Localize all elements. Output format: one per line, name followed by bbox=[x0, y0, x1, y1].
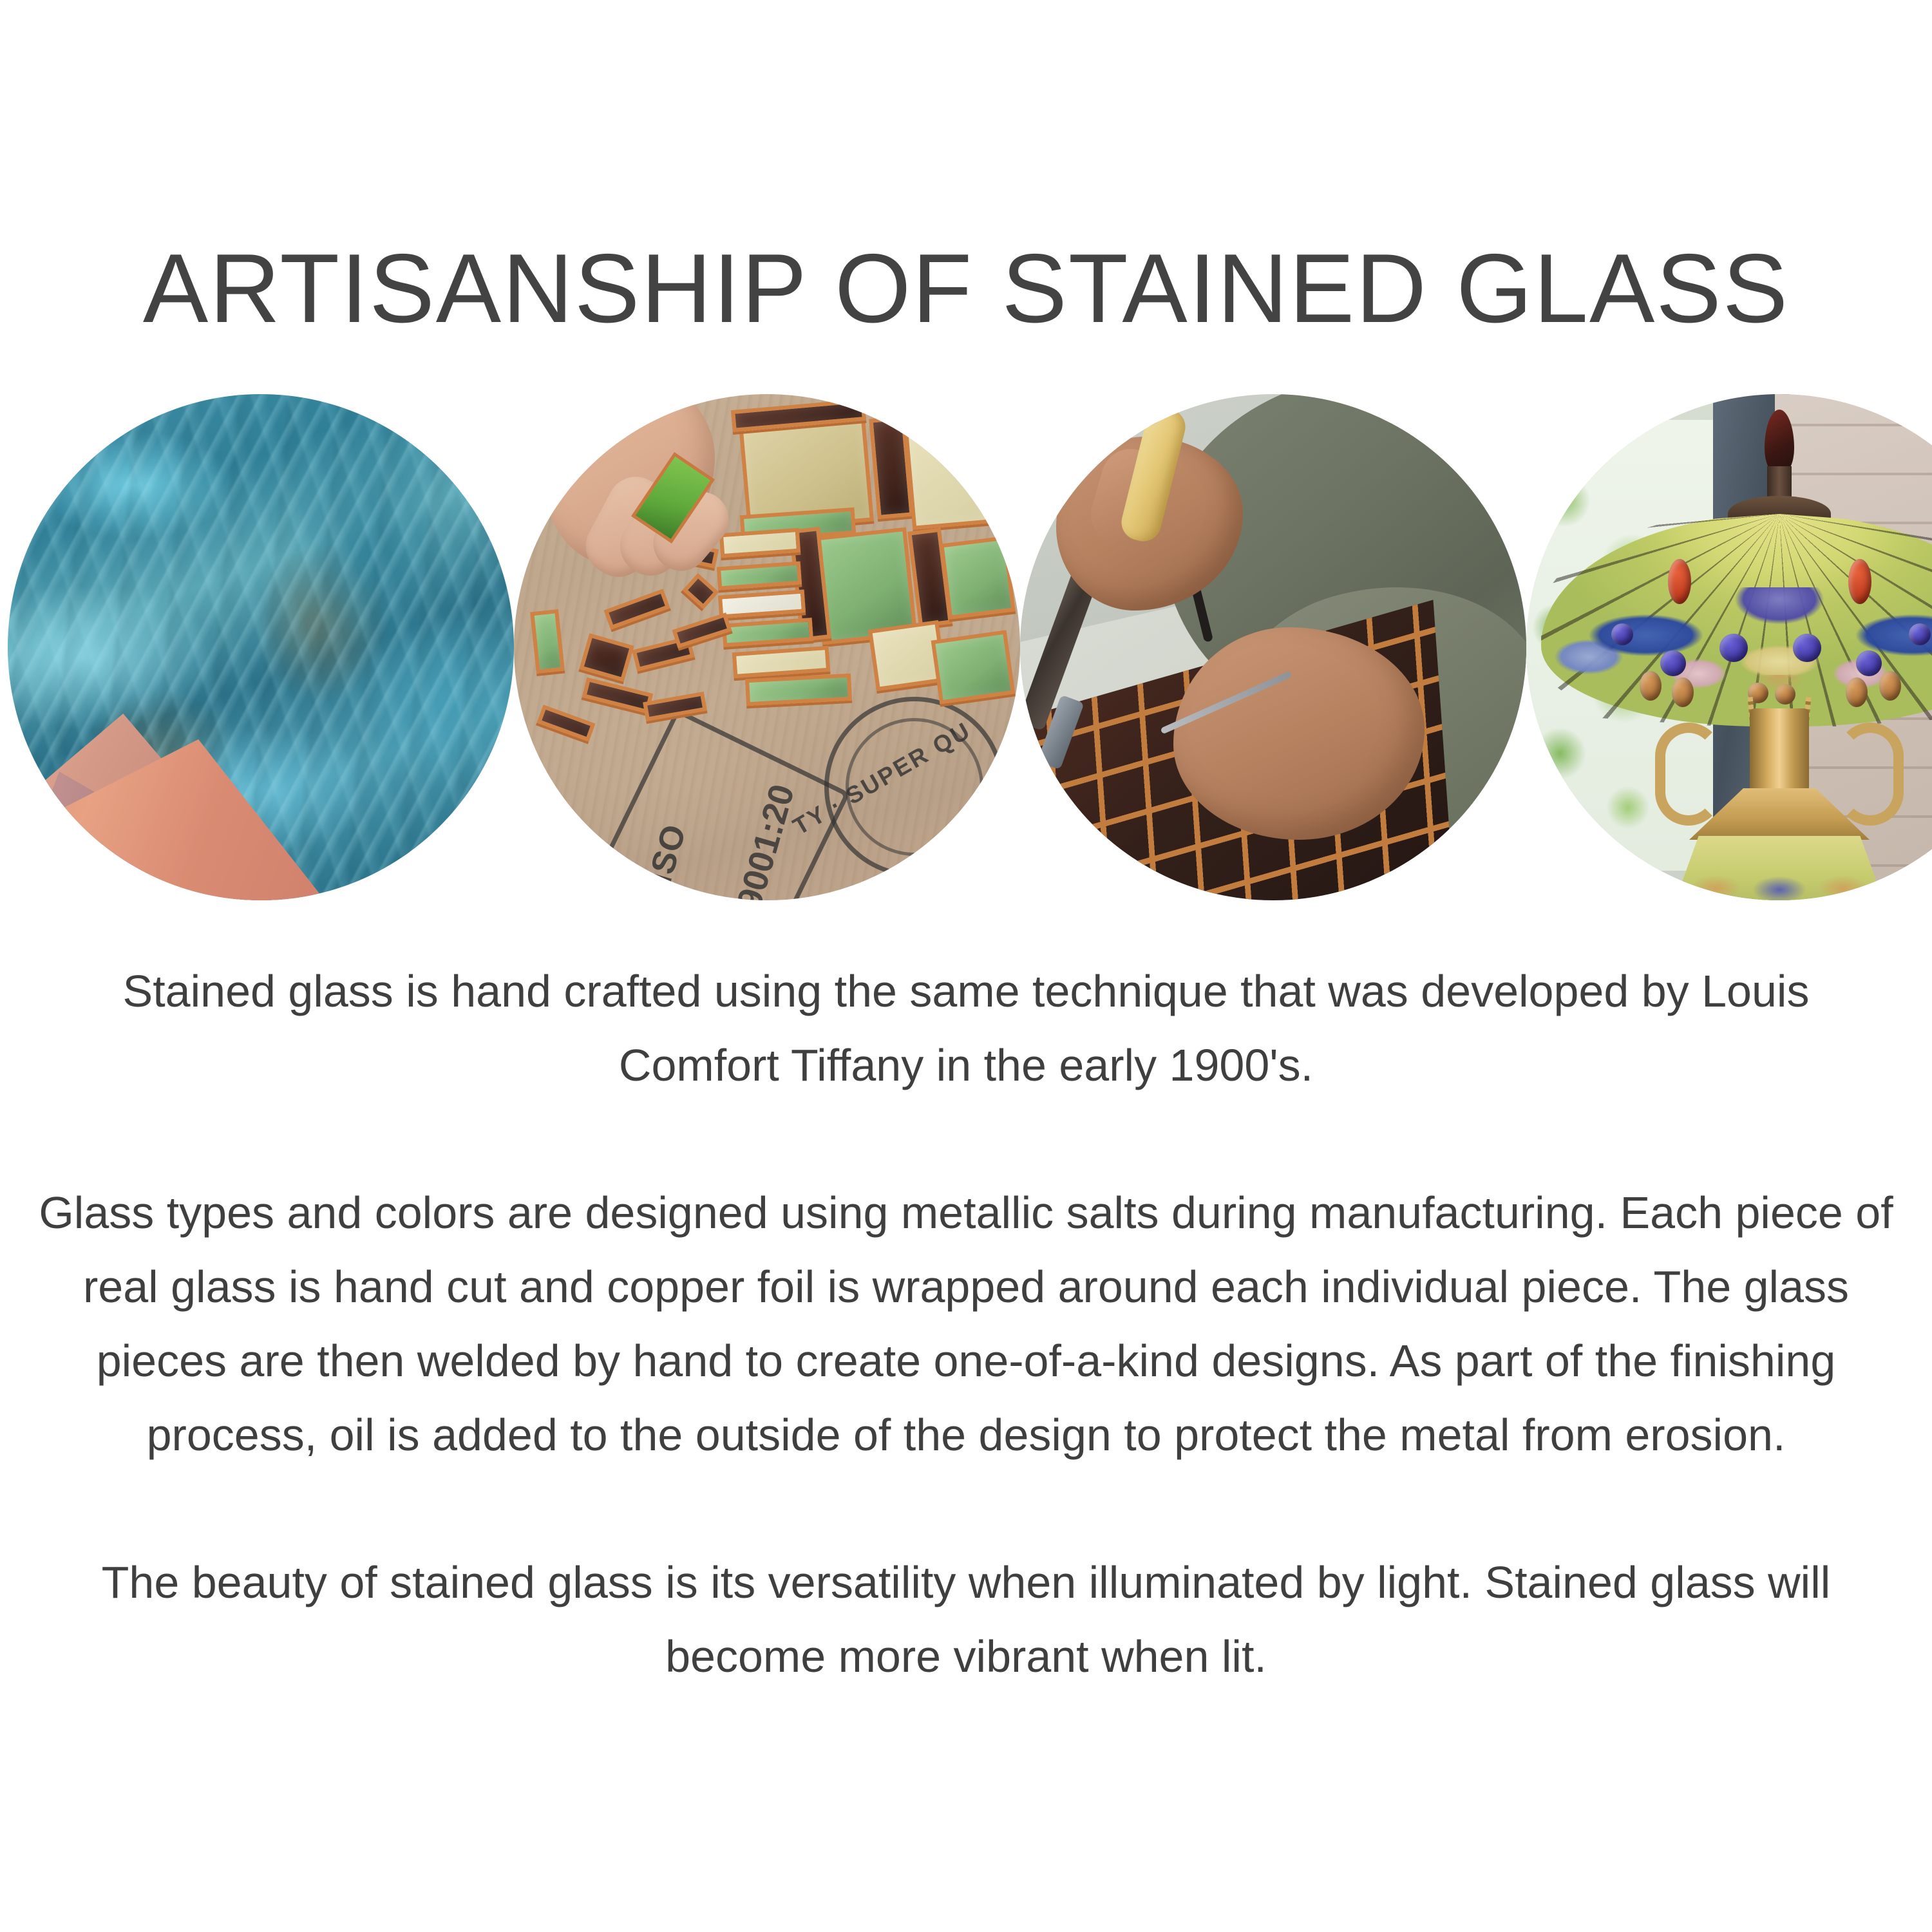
paragraph-1: Stained glass is hand crafted using the … bbox=[39, 954, 1893, 1103]
gallery-image-glass-sheets bbox=[8, 394, 514, 900]
shade-red-accent bbox=[1668, 559, 1691, 604]
infographic-page: ARTISANSHIP OF STAINED GLASS TY · SUPER … bbox=[0, 0, 1932, 1932]
image-gallery: TY · SUPER QU ISO 9001:20 bbox=[8, 394, 1918, 902]
shade-jewel bbox=[1793, 634, 1821, 662]
page-title: ARTISANSHIP OF STAINED GLASS bbox=[0, 240, 1932, 337]
description-text: Stained glass is hand crafted using the … bbox=[39, 954, 1893, 1694]
gallery-image-soldering bbox=[1020, 394, 1526, 900]
lamp-base-handle bbox=[1655, 723, 1722, 826]
shade-jewel bbox=[1856, 650, 1882, 676]
glass-piece bbox=[931, 630, 1016, 704]
lamp-base-glass-shade bbox=[1673, 836, 1886, 900]
shade-jewel bbox=[1909, 623, 1931, 645]
shade-jewel bbox=[1660, 650, 1686, 676]
paragraph-3: The beauty of stained glass is its versa… bbox=[39, 1546, 1893, 1694]
shade-red-accent bbox=[1848, 559, 1871, 604]
gallery-image-finished-lamp bbox=[1526, 394, 1932, 900]
shade-scalloped-edge bbox=[1544, 675, 1932, 726]
glass-piece bbox=[904, 417, 990, 530]
shade-jewel bbox=[1611, 623, 1633, 645]
glass-piece bbox=[745, 674, 852, 706]
gallery-image-copper-foiling: TY · SUPER QU ISO 9001:20 bbox=[514, 394, 1020, 900]
glass-piece bbox=[940, 536, 1016, 620]
shade-jewel bbox=[1719, 634, 1748, 662]
lamp-base-handle bbox=[1837, 723, 1904, 826]
lamp-base-neck bbox=[1750, 708, 1809, 792]
artisan-hand-lower bbox=[1173, 627, 1425, 840]
paragraph-2: Glass types and colors are designed usin… bbox=[39, 1176, 1893, 1472]
